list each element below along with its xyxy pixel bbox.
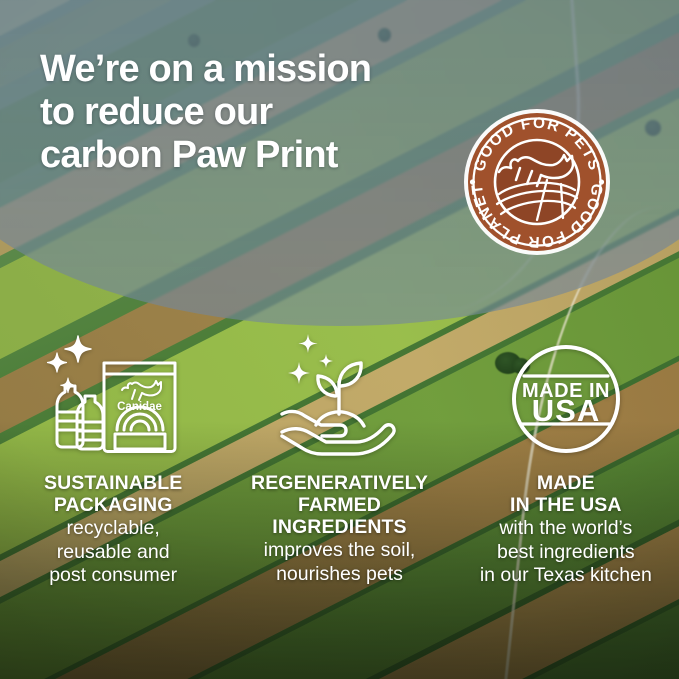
feature-heading: SUSTAINABLE PACKAGING (44, 472, 182, 516)
feature-columns: Canidae SUSTAINABLE PACKAGING recyclable… (0, 318, 679, 588)
feature-sustainable-packaging: Canidae SUSTAINABLE PACKAGING recyclable… (0, 318, 226, 588)
headline-line-1: We’re on a mission (40, 48, 480, 91)
usa-seal-line-2: USA (532, 393, 600, 428)
feature-body: recyclable, reusable and post consumer (44, 517, 182, 588)
feature-caption: SUSTAINABLE PACKAGING recyclable, reusab… (38, 472, 188, 588)
good-for-pets-good-for-planet-badge: GOOD FOR PETS GOOD FOR PLANET (463, 108, 611, 256)
feature-heading: REGENERATIVELY FARMED INGREDIENTS (251, 472, 428, 538)
feature-regenerative-ingredients: REGENERATIVELY FARMED INGREDIENTS improv… (226, 318, 452, 588)
feature-caption: MADE IN THE USA with the world’s best in… (474, 472, 658, 588)
feature-caption: REGENERATIVELY FARMED INGREDIENTS improv… (245, 472, 434, 586)
feature-body: with the world’s best ingredients in our… (480, 517, 652, 588)
marketing-banner: We’re on a mission to reduce our carbon … (0, 0, 679, 679)
page-title: We’re on a mission to reduce our carbon … (40, 48, 480, 177)
bag-brand-wordmark: Canidae (117, 401, 162, 413)
headline-line-3: carbon Paw Print (40, 134, 480, 177)
feature-heading: MADE IN THE USA (480, 472, 652, 516)
feature-body: improves the soil, nourishes pets (251, 539, 428, 586)
made-in-usa-seal-icon: MADE IN USA (491, 318, 641, 458)
feature-made-in-usa: MADE IN USA MADE IN THE USA with the wor… (453, 318, 679, 588)
hand-holding-sprout-icon (264, 318, 414, 458)
headline-line-2: to reduce our (40, 91, 480, 134)
recycled-packaging-bag-icon: Canidae (38, 318, 188, 458)
